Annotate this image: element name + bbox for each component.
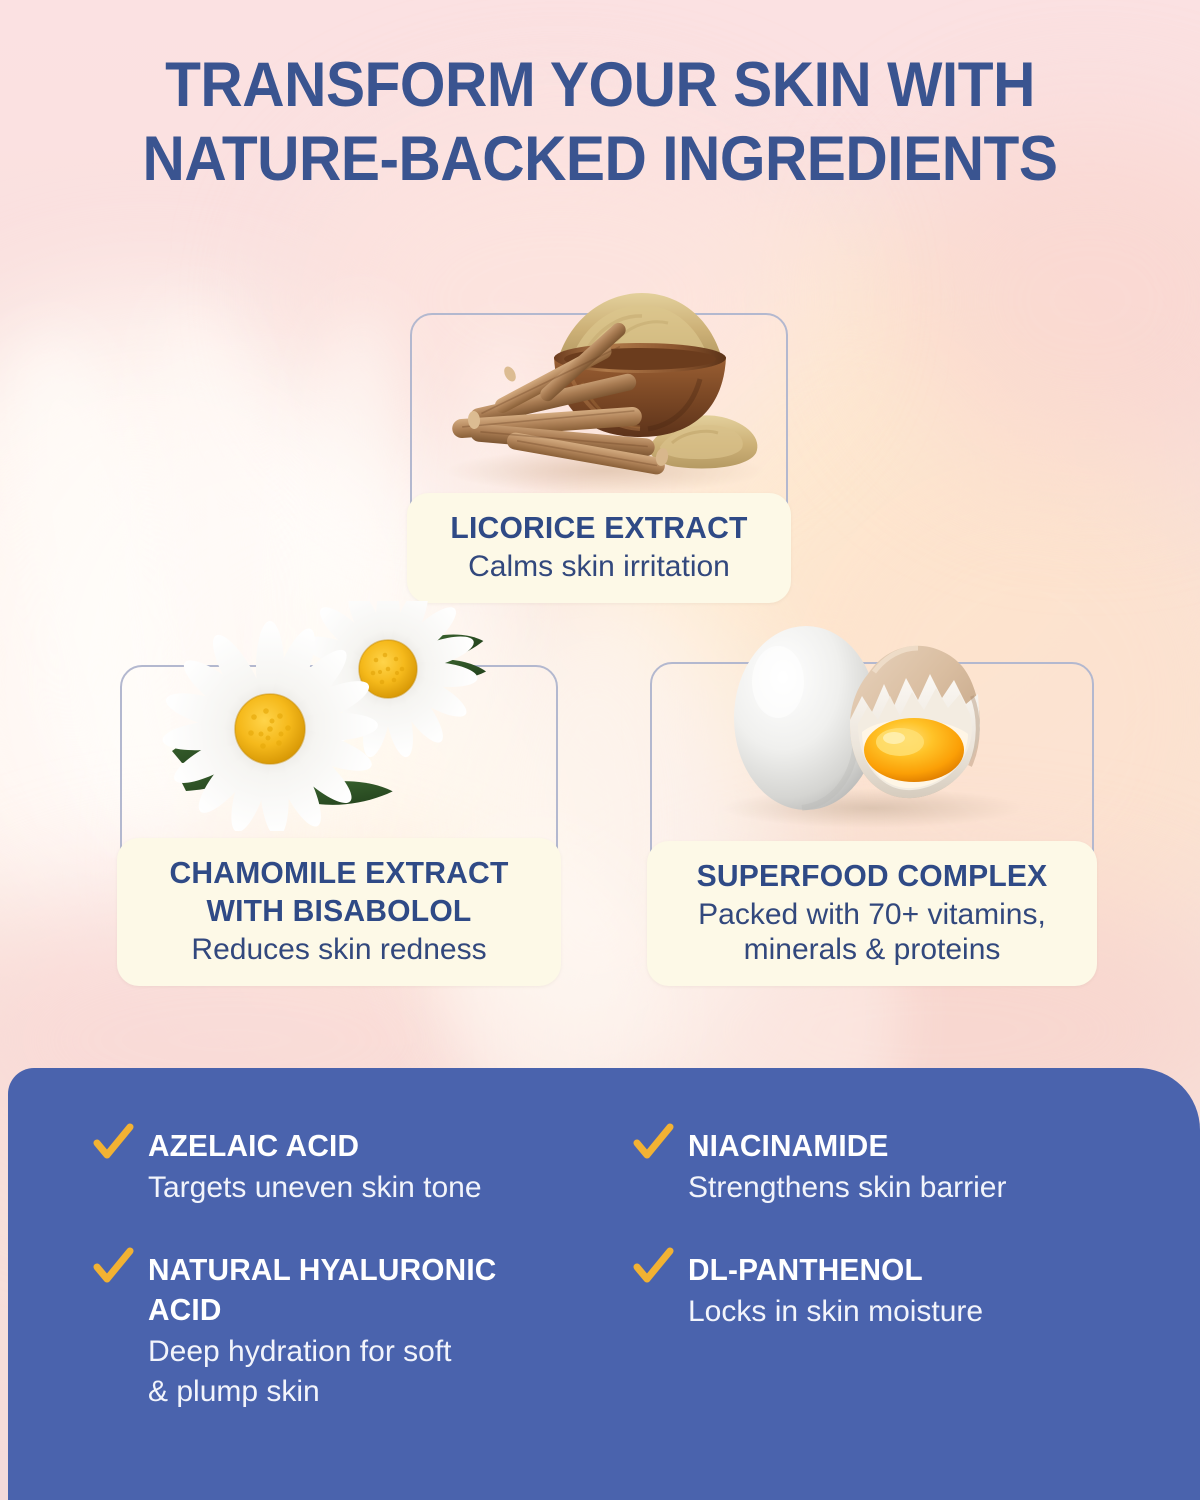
ingredient-card-licorice[interactable]: LICORICE EXTRACT Calms skin irritation xyxy=(410,313,788,598)
page-title: TRANSFORM YOUR SKIN WITH NATURE-BACKED I… xyxy=(42,48,1158,196)
card-description-line-2: minerals & proteins xyxy=(661,931,1083,968)
benefit-title: DL-PANTHENOL xyxy=(688,1250,1128,1290)
benefits-column-right: NIACINAMIDE Strengthens skin barrier DL-… xyxy=(626,1126,1146,1374)
headline-line-1: TRANSFORM YOUR SKIN WITH xyxy=(42,48,1158,122)
check-icon xyxy=(92,1246,134,1288)
benefit-description: Targets uneven skin tone xyxy=(148,1168,606,1208)
card-description-line-1: Packed with 70+ vitamins, xyxy=(661,896,1083,933)
benefit-title-line-1: NATURAL HYALURONIC xyxy=(148,1250,588,1290)
benefit-item: DL-PANTHENOL Locks in skin moisture xyxy=(626,1250,1146,1332)
benefit-title-line-2: ACID xyxy=(148,1290,588,1330)
card-title: SUPERFOOD COMPLEX xyxy=(667,857,1076,895)
card-label: LICORICE EXTRACT Calms skin irritation xyxy=(407,493,791,603)
ingredient-card-superfood[interactable]: SUPERFOOD COMPLEX Packed with 70+ vitami… xyxy=(650,662,1094,980)
benefit-title: AZELAIC ACID xyxy=(148,1126,588,1166)
check-icon xyxy=(632,1122,674,1164)
benefit-item: AZELAIC ACID Targets uneven skin tone xyxy=(86,1126,606,1208)
card-description: Reduces skin redness xyxy=(131,931,547,968)
card-label: SUPERFOOD COMPLEX Packed with 70+ vitami… xyxy=(647,841,1097,986)
benefit-description-line-2: & plump skin xyxy=(148,1372,606,1412)
check-icon xyxy=(632,1246,674,1288)
benefits-column-left: AZELAIC ACID Targets uneven skin tone NA… xyxy=(86,1126,606,1454)
card-description: Calms skin irritation xyxy=(421,548,777,585)
benefit-description: Strengthens skin barrier xyxy=(688,1168,1146,1208)
benefit-description-line-1: Deep hydration for soft xyxy=(148,1332,606,1372)
card-label: CHAMOMILE EXTRACT WITH BISABOLOL Reduces… xyxy=(117,838,561,986)
benefit-title: NIACINAMIDE xyxy=(688,1126,1128,1166)
benefit-item: NIACINAMIDE Strengthens skin barrier xyxy=(626,1126,1146,1208)
headline-line-2: NATURE-BACKED INGREDIENTS xyxy=(42,122,1158,196)
card-title: LICORICE EXTRACT xyxy=(426,509,771,547)
benefit-item: NATURAL HYALURONIC ACID Deep hydration f… xyxy=(86,1250,606,1412)
check-icon xyxy=(92,1122,134,1164)
card-title-line-2: WITH BISABOLOL xyxy=(137,892,541,930)
benefits-panel: AZELAIC ACID Targets uneven skin tone NA… xyxy=(8,1068,1200,1500)
ingredient-card-chamomile[interactable]: CHAMOMILE EXTRACT WITH BISABOLOL Reduces… xyxy=(120,665,558,980)
benefit-description: Locks in skin moisture xyxy=(688,1292,1146,1332)
card-title-line-1: CHAMOMILE EXTRACT xyxy=(137,854,541,892)
